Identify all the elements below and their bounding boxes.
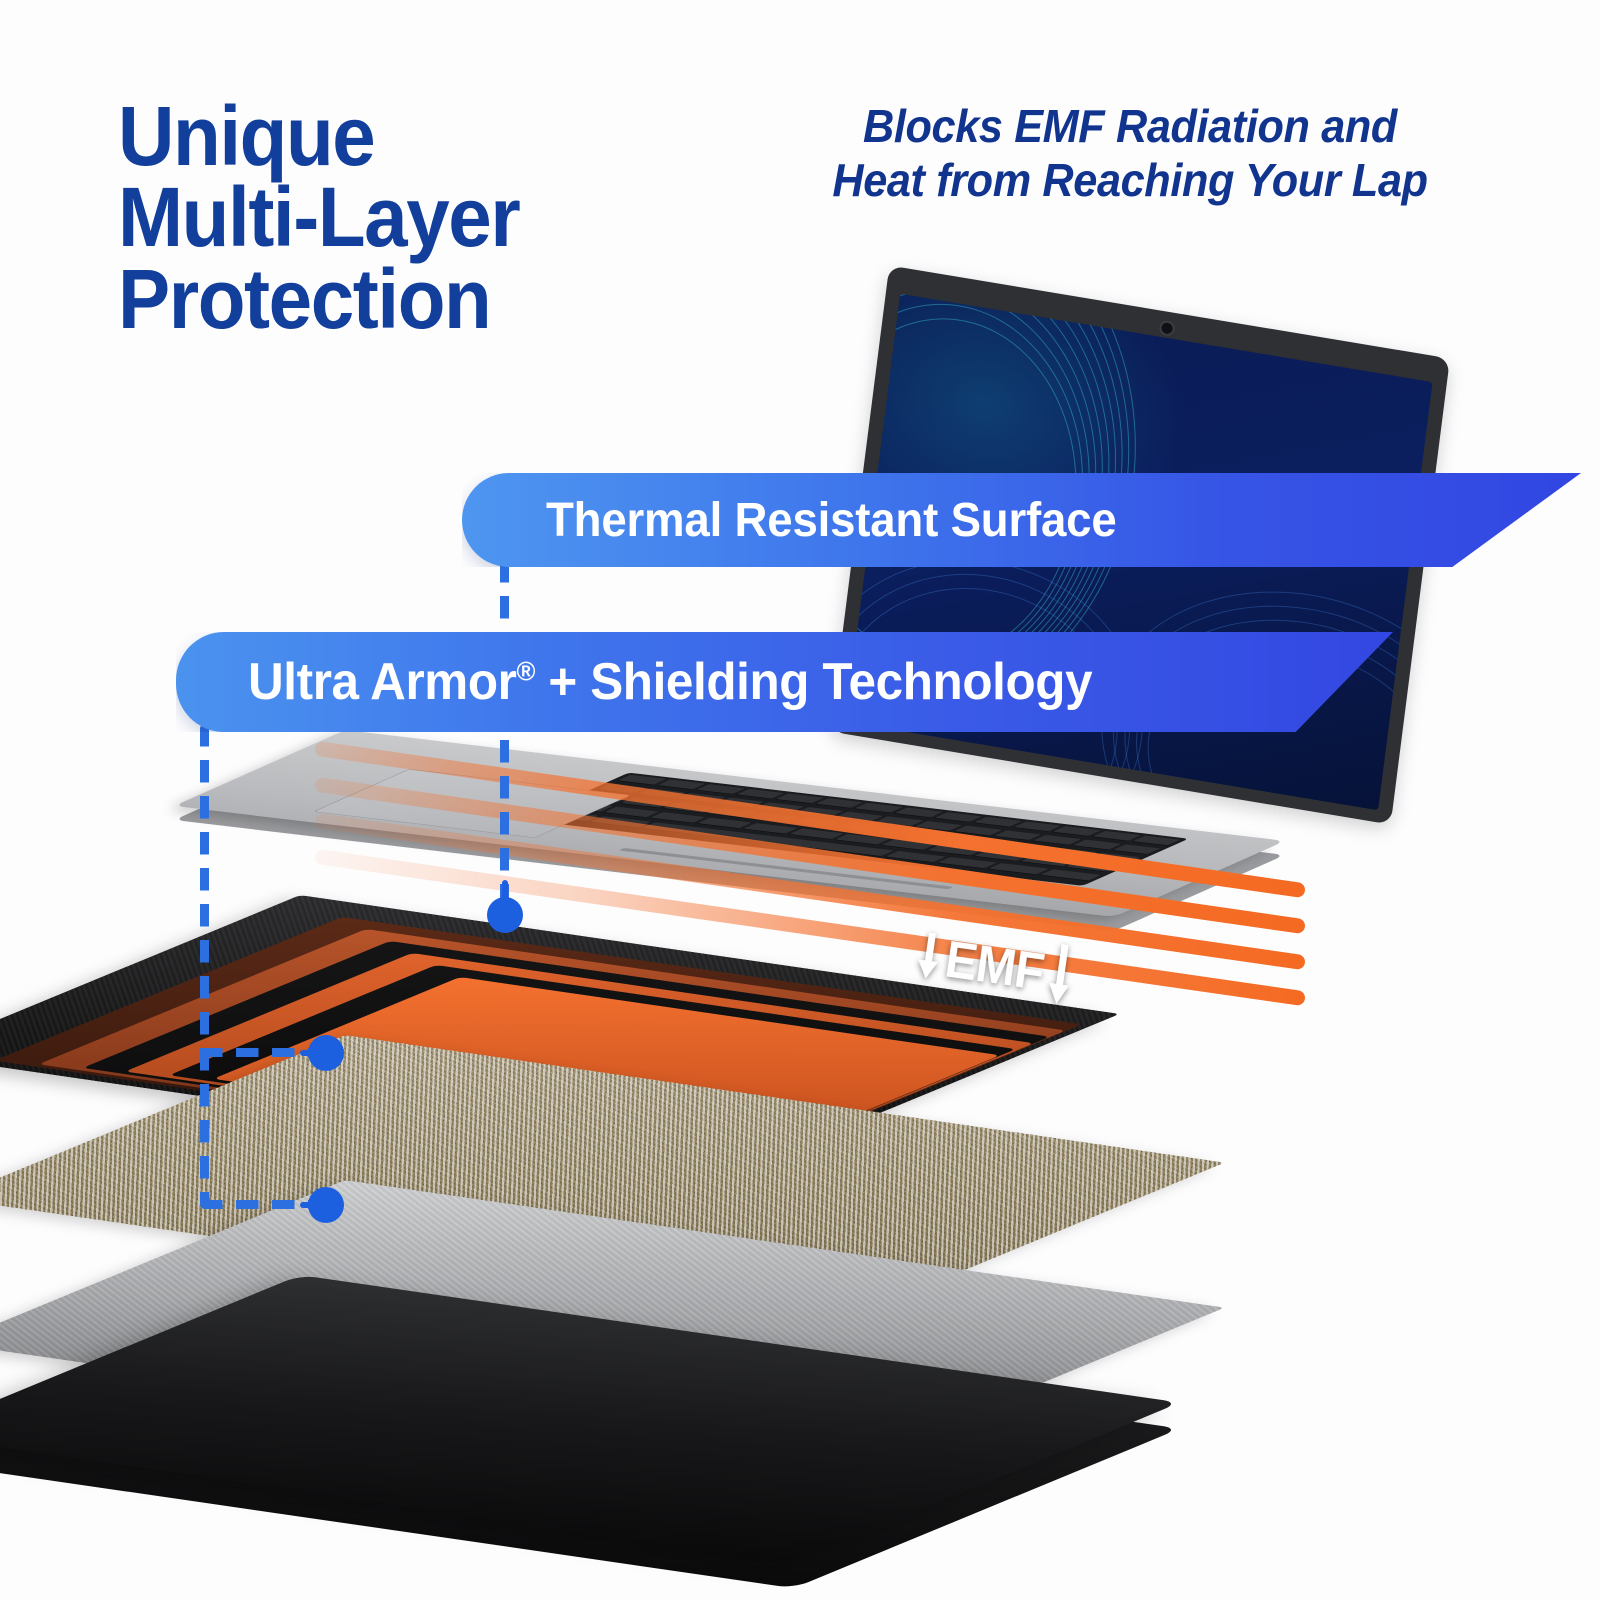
webcam-icon — [1161, 322, 1173, 335]
registered-trademark-icon: ® — [516, 657, 535, 687]
callout-thermal-resistant-surface[interactable]: Thermal Resistant Surface — [462, 473, 1581, 567]
callout-ultra-armor-label: Ultra Armor® + Shielding Technology — [248, 652, 1092, 712]
connector-dot-thermal — [487, 897, 523, 933]
connector-dot-metal — [308, 1187, 344, 1223]
emf-label: EMF — [942, 929, 1048, 1002]
connector-dot-mesh — [308, 1035, 344, 1071]
callout-ultra-armor-shielding[interactable]: Ultra Armor® + Shielding Technology — [176, 632, 1393, 732]
infographic-canvas: Unique Multi-Layer Protection Blocks EMF… — [0, 0, 1600, 1600]
callout-thermal-label: Thermal Resistant Surface — [546, 493, 1117, 548]
connector-line-ultra-armor — [200, 724, 209, 1206]
callout-ultra-armor-label-post: + Shielding Technology — [535, 653, 1092, 711]
connector-line-thermal — [500, 560, 509, 910]
page-subtitle: Blocks EMF Radiation and Heat from Reach… — [782, 100, 1478, 208]
callout-ultra-armor-label-pre: Ultra Armor — [248, 653, 516, 711]
